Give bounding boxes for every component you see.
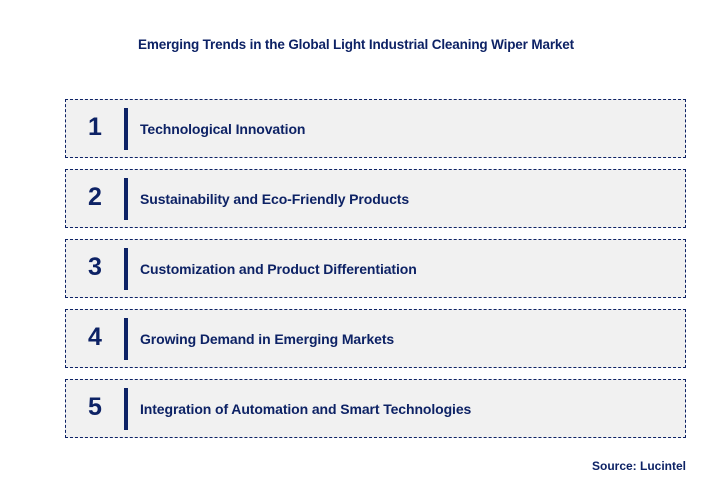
- list-item[interactable]: 1 Technological Innovation: [65, 99, 686, 158]
- trend-label: Growing Demand in Emerging Markets: [140, 331, 685, 347]
- trend-list: 1 Technological Innovation 2 Sustainabil…: [65, 99, 686, 438]
- trend-label: Technological Innovation: [140, 121, 685, 137]
- infographic-canvas: Emerging Trends in the Global Light Indu…: [0, 0, 712, 501]
- list-item[interactable]: 3 Customization and Product Differentiat…: [65, 239, 686, 298]
- trend-number: 2: [66, 185, 124, 212]
- vertical-divider: [124, 248, 128, 290]
- page-title: Emerging Trends in the Global Light Indu…: [0, 37, 712, 52]
- vertical-divider: [124, 108, 128, 150]
- source-note: Source: Lucintel: [592, 459, 686, 473]
- vertical-divider: [124, 388, 128, 430]
- trend-label: Sustainability and Eco-Friendly Products: [140, 191, 685, 207]
- trend-number: 1: [66, 115, 124, 142]
- list-item[interactable]: 2 Sustainability and Eco-Friendly Produc…: [65, 169, 686, 228]
- vertical-divider: [124, 318, 128, 360]
- trend-label: Customization and Product Differentiatio…: [140, 261, 685, 277]
- list-item[interactable]: 5 Integration of Automation and Smart Te…: [65, 379, 686, 438]
- vertical-divider: [124, 178, 128, 220]
- trend-number: 3: [66, 255, 124, 282]
- trend-label: Integration of Automation and Smart Tech…: [140, 401, 685, 417]
- trend-number: 4: [66, 325, 124, 352]
- list-item[interactable]: 4 Growing Demand in Emerging Markets: [65, 309, 686, 368]
- trend-number: 5: [66, 395, 124, 422]
